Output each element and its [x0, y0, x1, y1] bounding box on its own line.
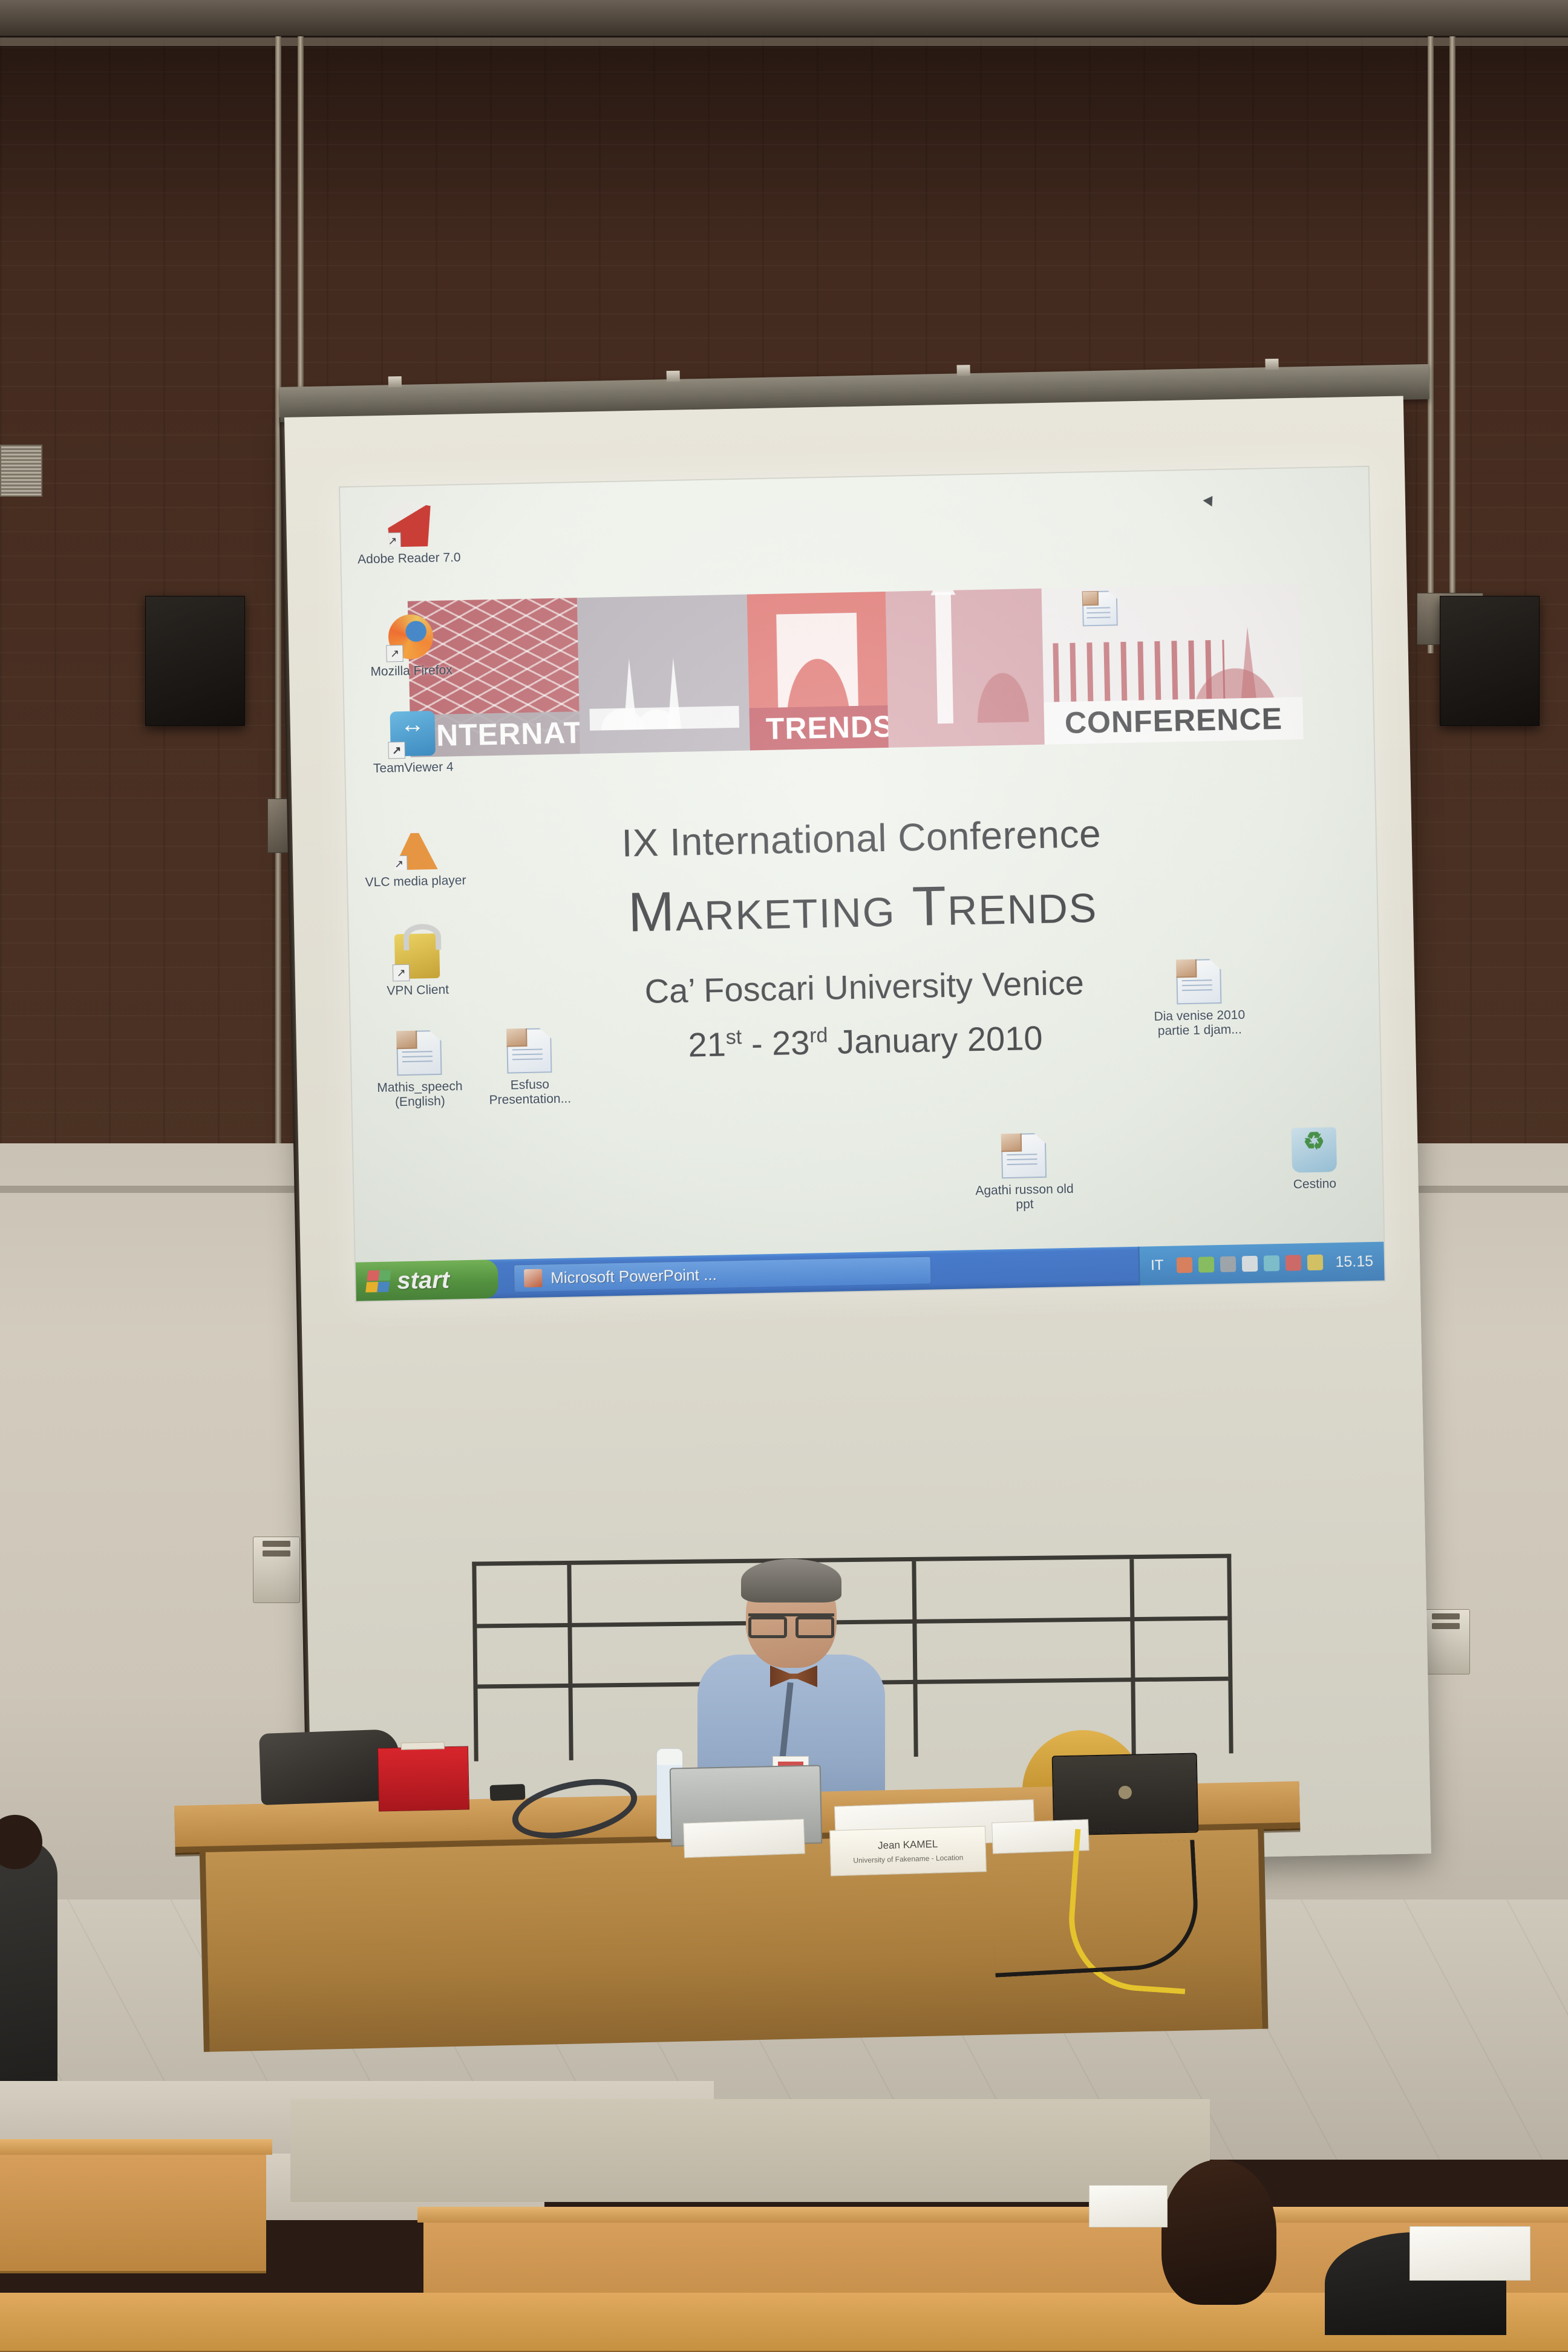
recycle-bin-icon: ♻	[1292, 1127, 1337, 1172]
banner-panel-cathedral	[577, 595, 750, 754]
taskbar-item-powerpoint[interactable]: Microsoft PowerPoint ...	[514, 1256, 932, 1293]
date-ordinal-2: rd	[809, 1024, 828, 1047]
date-day-1: 21	[688, 1025, 727, 1063]
desktop-icon-recycle-bin[interactable]: ♻ Cestino	[1255, 1126, 1374, 1193]
audio-tray-icon[interactable]	[1220, 1256, 1236, 1273]
powerpoint-stamp-icon	[1081, 590, 1099, 606]
desktop-icon-label: Dia venise 2010 partie 1 djam...	[1154, 1008, 1245, 1038]
shortcut-arrow-icon: ↗	[386, 645, 403, 662]
powerpoint-document-icon	[1001, 1133, 1047, 1178]
desktop-icon-label: Adobe Reader 7.0	[358, 550, 461, 566]
wall-outlet-right	[1422, 1609, 1470, 1674]
desktop-icon-agathi-russon[interactable]: Agathi russon old ppt	[964, 1132, 1085, 1214]
powerpoint-stamp-icon	[395, 1029, 417, 1049]
desktop-icon-label: VLC media player	[365, 874, 466, 889]
desktop-icon-esfuso-presentation[interactable]: Esfuso Presentation...	[469, 1027, 590, 1108]
powerpoint-stamp-icon	[999, 1132, 1022, 1152]
desktop-icon-label: VPN Client	[387, 983, 449, 998]
language-indicator[interactable]: IT	[1151, 1257, 1164, 1274]
desktop-icon-label: Agathi russon old ppt	[975, 1182, 1074, 1212]
adobe-reader-icon: ↗	[386, 501, 431, 547]
date-ordinal-1: st	[725, 1025, 742, 1049]
paper-sheet	[683, 1819, 805, 1858]
powerpoint-icon	[524, 1269, 543, 1288]
shortcut-arrow-icon: ↗	[384, 532, 402, 550]
slide-title-line2: MARKETING TRENDS	[348, 866, 1377, 950]
ceiling-speaker-right	[1440, 596, 1540, 726]
teamviewer-icon: ↔ ↗	[390, 711, 435, 756]
desktop-icon-label: Mozilla Firefox	[370, 663, 452, 679]
vpn-lock-icon: ↗	[394, 933, 440, 979]
date-month-year: January 2010	[828, 1019, 1043, 1061]
banner-caption-part: CONFERENCE	[1044, 697, 1303, 745]
name-placard: Jean KAMEL University of Fakename - Loca…	[829, 1826, 987, 1876]
audience-paper	[1089, 2185, 1168, 2227]
banner-panel-arc: TRENDS	[747, 592, 889, 751]
laptop-logo-icon	[1119, 1786, 1132, 1799]
desktop-icon-vlc[interactable]: ↗ VLC media player	[355, 824, 475, 890]
housing-bracket	[667, 371, 680, 382]
windows-logo-icon	[365, 1270, 391, 1293]
housing-bracket	[1265, 359, 1278, 370]
desktop-icon-dia-venise[interactable]: Dia venise 2010 partie 1 djam...	[1139, 958, 1259, 1039]
spire-graphic	[667, 658, 681, 729]
desktop-icon-label: Mathis_speech (English)	[377, 1079, 463, 1109]
slide-title-t: T	[912, 875, 948, 938]
slide-title-m: M	[627, 881, 676, 944]
ceiling-trim	[0, 0, 1568, 38]
system-tray[interactable]: IT 15.15	[1138, 1242, 1385, 1285]
slide-title-arketing: ARKETING	[675, 889, 896, 939]
desktop-icon-overlapping-banner[interactable]	[1063, 590, 1137, 632]
update-tray-icon[interactable]	[1264, 1255, 1280, 1272]
desktop-icon-vpn-client[interactable]: ↗ VPN Client	[358, 933, 477, 999]
audience-desk-top	[417, 2207, 1568, 2223]
shortcut-arrow-icon: ↗	[388, 742, 405, 759]
conference-banner-image: INTERNATIONAL MARKETING TRENDS CONFERENC…	[408, 583, 1304, 757]
desktop-icon-teamviewer[interactable]: ↔ ↗ TeamViewer 4	[353, 710, 472, 777]
wireless-tray-icon[interactable]	[1242, 1256, 1258, 1272]
campanile-graphic	[935, 592, 953, 724]
messenger-tray-icon[interactable]	[1285, 1255, 1302, 1271]
taskbar-clock[interactable]: 15.15	[1335, 1252, 1373, 1270]
vlc-cone-icon: ↗	[392, 825, 437, 870]
powerpoint-stamp-icon	[1175, 958, 1197, 978]
slide-title-line1: IX International Conference	[347, 806, 1376, 871]
housing-bracket	[388, 376, 402, 387]
housing-bracket	[956, 365, 970, 376]
audience-desk-top	[0, 2139, 272, 2155]
slide-title-rends: RENDS	[947, 885, 1098, 934]
powerpoint-stamp-icon	[505, 1027, 528, 1047]
placard-affiliation: University of Fakename - Location	[853, 1853, 963, 1864]
bridge-graphic	[966, 650, 1039, 723]
desktop-icon-label: TeamViewer 4	[373, 760, 454, 776]
security-shield-tray-icon[interactable]	[1307, 1255, 1324, 1271]
banner-panel-campanile	[885, 589, 1044, 748]
cathedral-graphic	[588, 637, 739, 731]
taskbar-item-label: Microsoft PowerPoint ...	[550, 1265, 717, 1287]
railing-post	[567, 1565, 573, 1760]
powerpoint-document-icon	[1176, 959, 1221, 1004]
audience-desk-left	[0, 2146, 266, 2273]
audience-paper	[1410, 2226, 1530, 2281]
powerpoint-document-icon	[506, 1028, 552, 1073]
antivirus-tray-icon[interactable]	[1177, 1257, 1193, 1273]
mobile-phone	[490, 1784, 526, 1801]
placard-name: Jean KAMEL	[878, 1838, 938, 1852]
wall-outlet-left	[253, 1537, 300, 1603]
start-button-label: start	[397, 1266, 450, 1295]
black-power-cable	[989, 1840, 1201, 1978]
powerpoint-document-icon	[1082, 590, 1118, 626]
presenter-glasses	[748, 1613, 834, 1629]
projected-desktop[interactable]: INTERNATIONAL MARKETING TRENDS CONFERENC…	[340, 467, 1385, 1301]
shortcut-arrow-icon: ↗	[393, 964, 410, 982]
wall-conduit-pipe	[1428, 36, 1434, 653]
banner-caption-part: TRENDS	[749, 705, 888, 750]
powerpoint-document-icon	[396, 1030, 442, 1076]
stage-step	[290, 2099, 1210, 2202]
desktop-icon-mathis-speech[interactable]: Mathis_speech (English)	[359, 1030, 480, 1111]
desktop-icon-label: Esfuso Presentation...	[489, 1077, 571, 1107]
presenter-hair	[741, 1559, 841, 1602]
firefox-icon: ↗	[388, 614, 433, 659]
date-day-2: 23	[771, 1024, 810, 1062]
conference-hall-photo: INTERNATIONAL MARKETING TRENDS CONFERENC…	[0, 0, 1568, 2352]
red-case	[377, 1746, 469, 1811]
desktop-icon-label: Cestino	[1293, 1177, 1337, 1191]
desktop-icon-mozilla-firefox[interactable]: ↗ Mozilla Firefox	[351, 613, 471, 680]
wall-conduit-pipe	[1449, 36, 1455, 653]
network-tray-icon[interactable]	[1198, 1256, 1215, 1273]
railing-post	[912, 1561, 918, 1757]
audience-person-hair	[1161, 2160, 1276, 2305]
shortcut-arrow-icon: ↗	[390, 855, 408, 873]
wall-vent	[0, 445, 42, 497]
spire-graphic	[622, 658, 637, 730]
mouse-cursor-icon	[1203, 493, 1217, 506]
date-separator: -	[742, 1024, 773, 1063]
start-button[interactable]: start	[356, 1259, 498, 1301]
ceiling-speaker-left	[145, 596, 245, 726]
desktop-icon-adobe-reader[interactable]: ↗ Adobe Reader 7.0	[349, 501, 469, 567]
ceiling-trim-secondary	[0, 38, 1568, 46]
railing-post	[1129, 1559, 1135, 1754]
